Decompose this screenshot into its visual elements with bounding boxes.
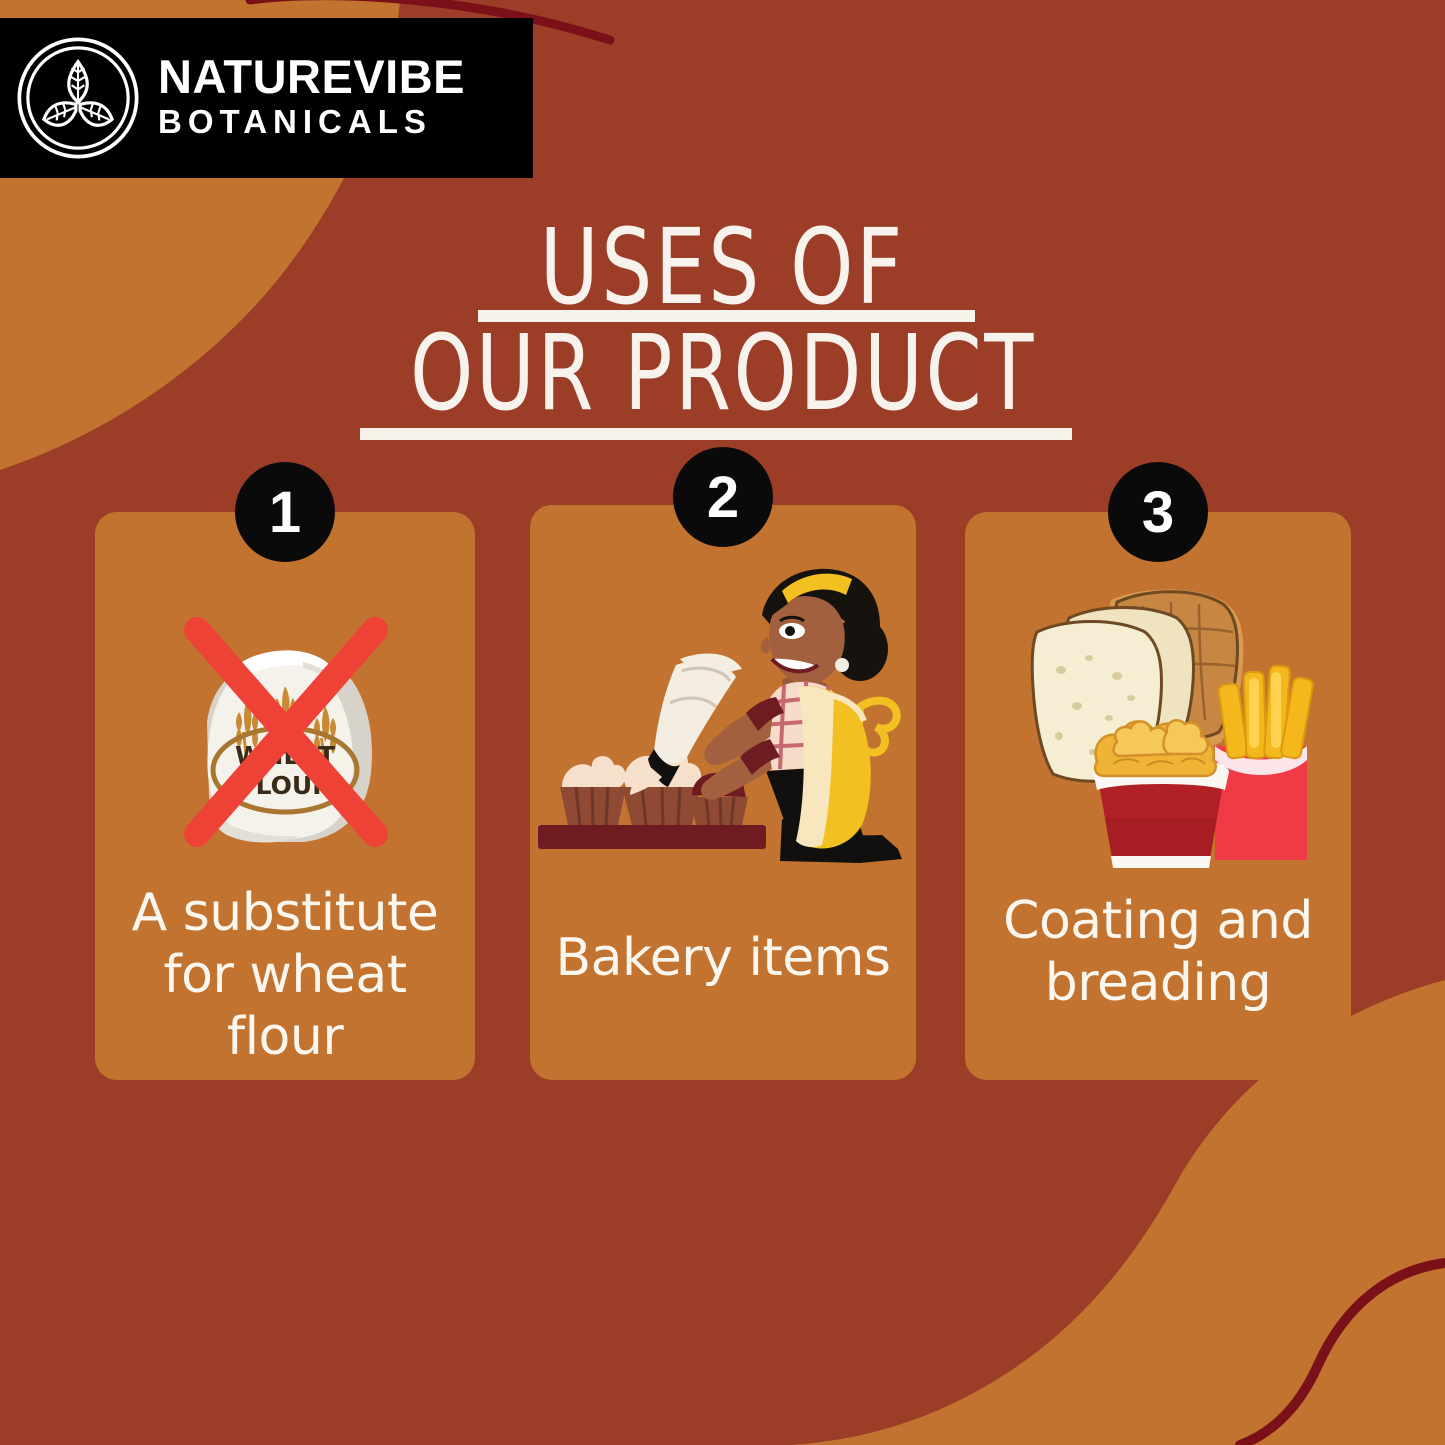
- page-title-line-2: OUR PRODUCT: [409, 320, 1035, 426]
- brand-logo: NATUREVIBE BOTANICALS: [0, 18, 533, 178]
- infographic-canvas: NATUREVIBE BOTANICALS USES OF OUR PRODUC…: [0, 0, 1445, 1445]
- page-title-line-1: USES OF: [540, 214, 905, 320]
- use-card-3-caption: Coating and breading: [965, 890, 1351, 1014]
- use-card-1-caption: A substitute for wheat flour: [95, 882, 475, 1068]
- trillium-leaf-circle-logo-icon: [14, 34, 142, 162]
- step-number-badge-2: 2: [673, 447, 773, 547]
- bread-fried-chicken-bucket-and-fries-icon: [965, 556, 1351, 886]
- step-number-badge-1: 1: [235, 462, 335, 562]
- page-title-underline-2: [360, 428, 1072, 440]
- page-title-underline-1: [478, 310, 975, 322]
- crossed-out-wheat-flour-sack-icon: WHEAT FLOUR: [95, 552, 475, 882]
- baker-woman-piping-cupcakes-icon: [530, 529, 916, 919]
- use-card-2-caption: Bakery items: [530, 927, 916, 989]
- brand-name-secondary: BOTANICALS: [158, 101, 465, 143]
- use-card-3[interactable]: 3: [965, 512, 1351, 1080]
- use-card-2[interactable]: 2: [530, 505, 916, 1080]
- step-number-badge-3: 3: [1108, 462, 1208, 562]
- brand-name-primary: NATUREVIBE: [158, 53, 465, 101]
- use-card-1[interactable]: 1: [95, 512, 475, 1080]
- page-title: USES OF OUR PRODUCT: [0, 214, 1445, 426]
